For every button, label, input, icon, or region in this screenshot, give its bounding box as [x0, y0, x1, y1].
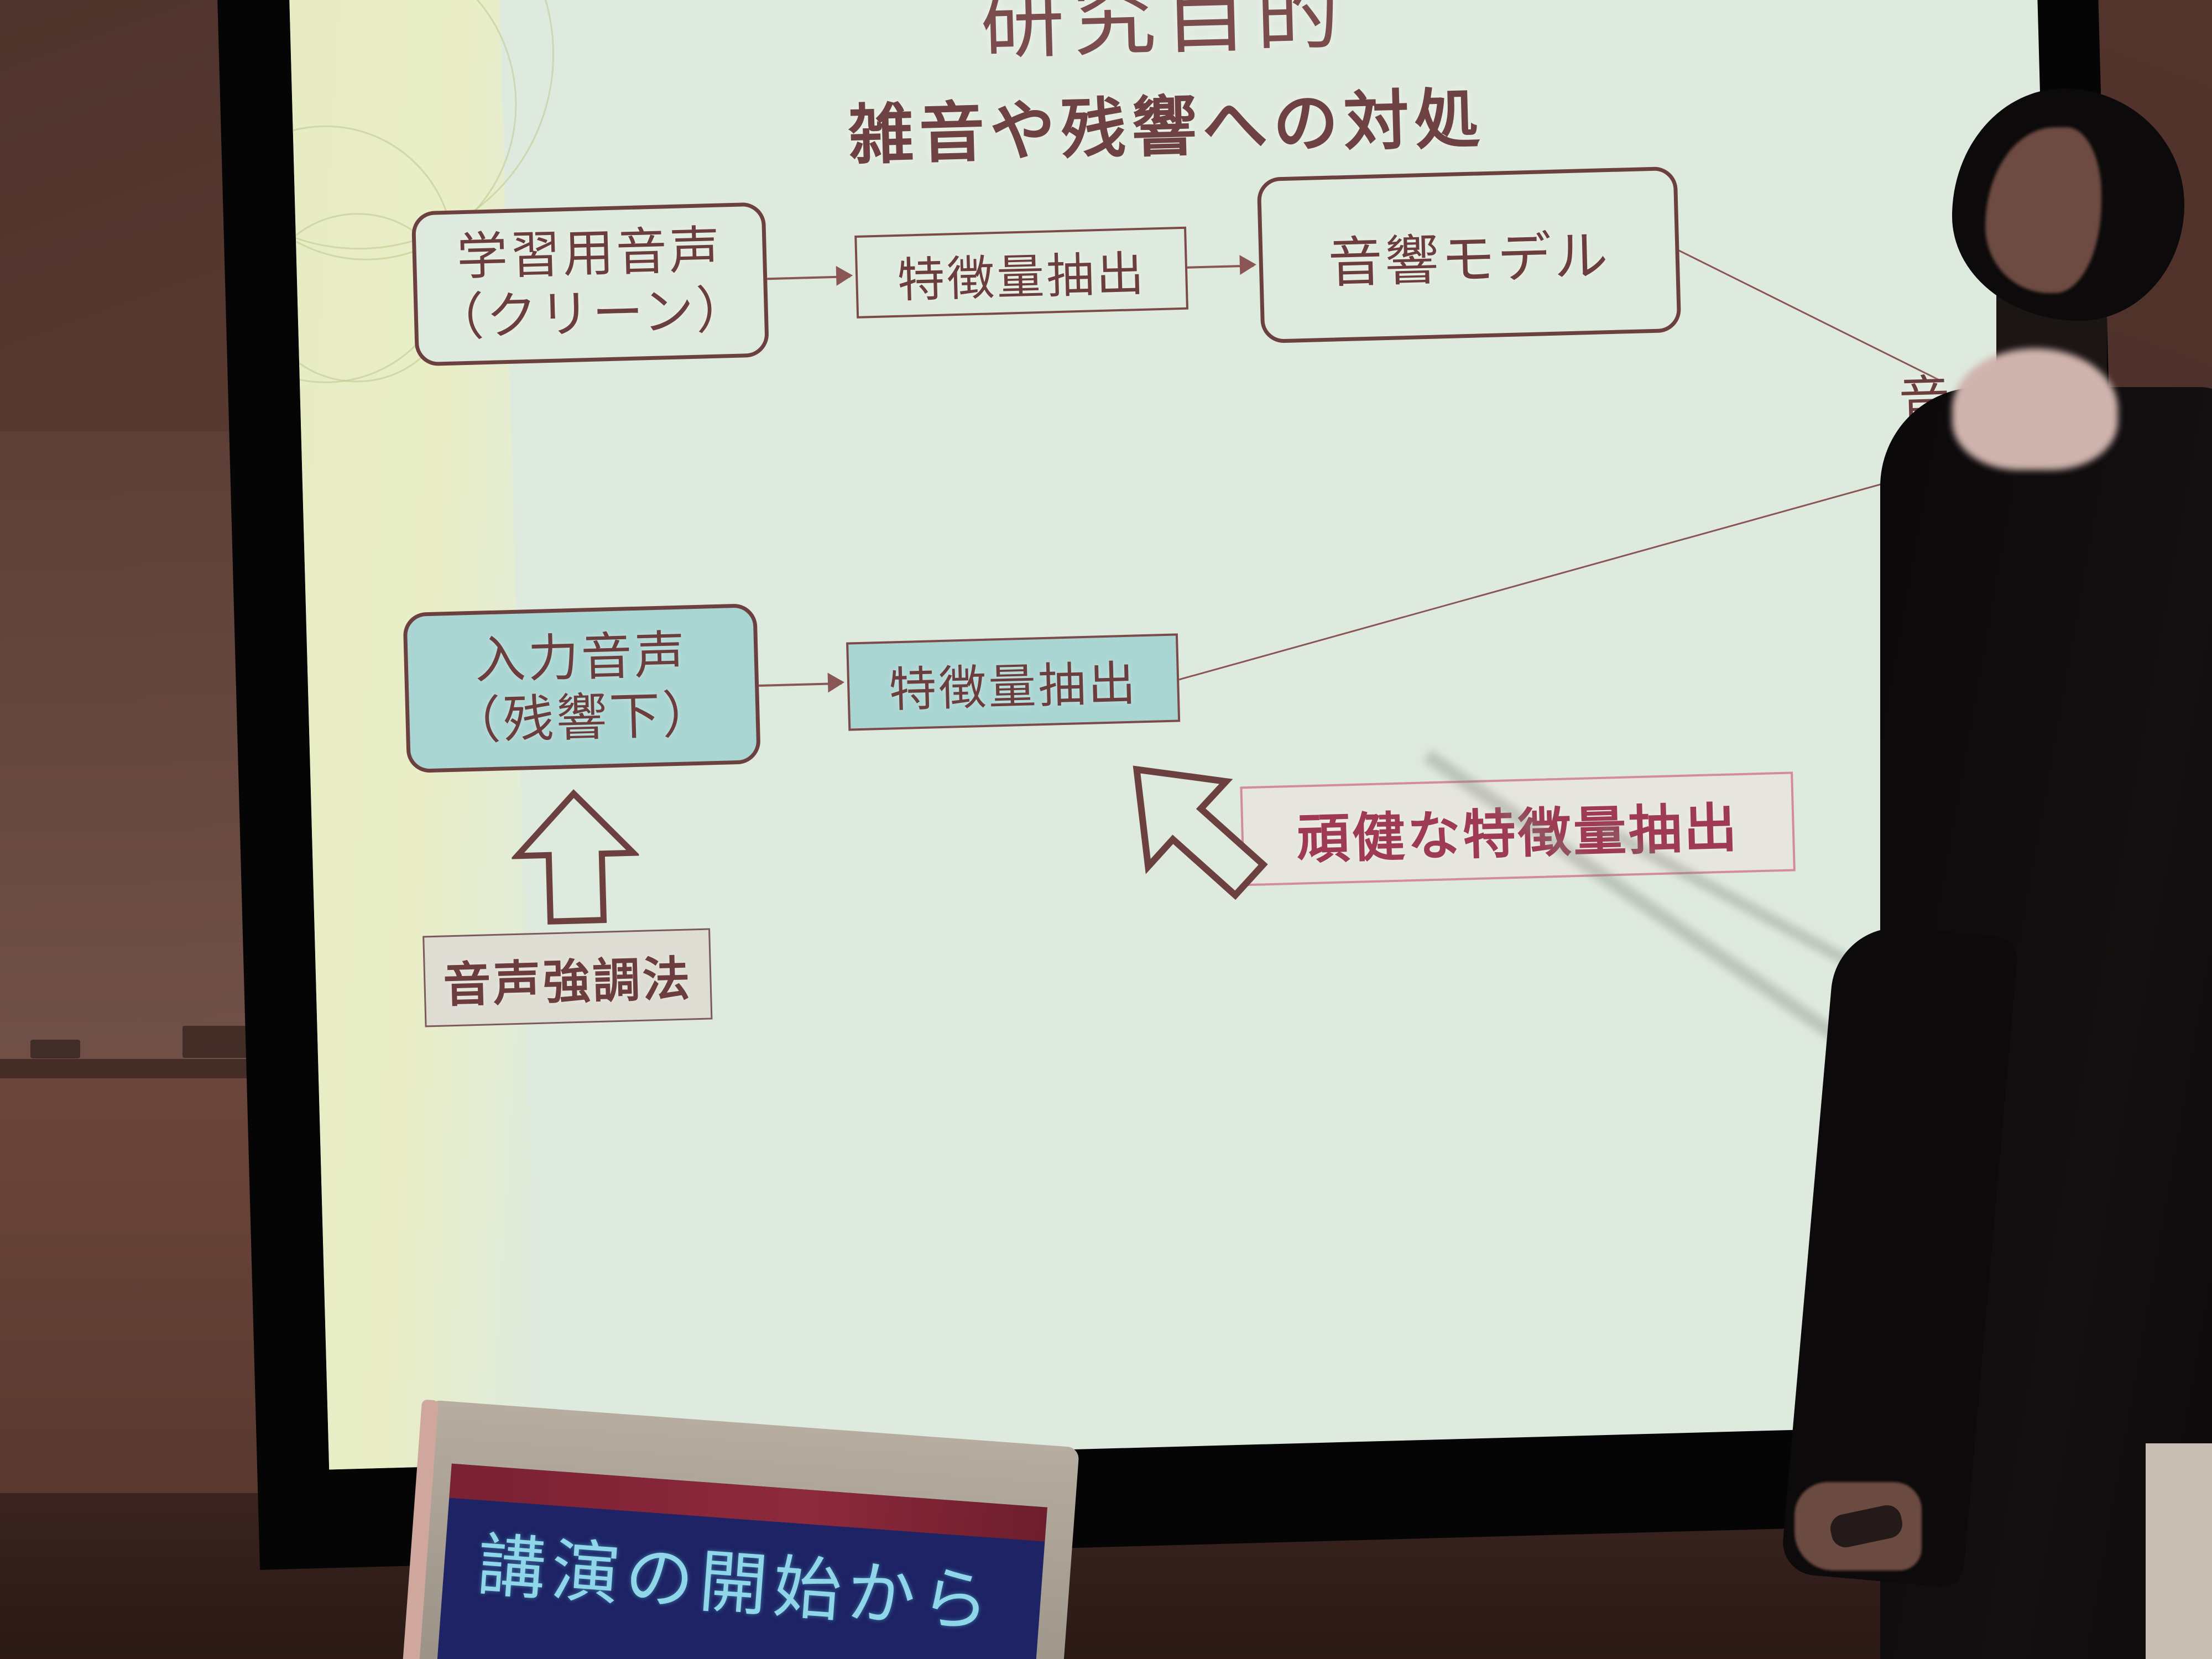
podium — [2146, 1443, 2212, 1659]
box-line-1: 音響モデル — [1327, 212, 1611, 298]
box-line-2: （クリーン） — [432, 280, 750, 348]
callout-speech-enhancement[interactable]: 音声強調法 — [422, 928, 712, 1027]
box-feature-extraction-bottom[interactable]: 特徴量抽出 — [846, 633, 1180, 731]
presenter-collar — [1952, 348, 2118, 470]
box-feature-extraction-top[interactable]: 特徴量抽出 — [854, 227, 1188, 319]
block-arrow-up-left-icon — [1129, 758, 1271, 906]
box-line-1: 特徴量抽出 — [896, 234, 1147, 310]
arrowhead-icon — [1239, 254, 1256, 275]
slide-title: 研究目的 — [289, 0, 2038, 83]
box-line-1: 学習用音声 — [431, 220, 748, 289]
box-line-1: 入力音声 — [447, 625, 714, 692]
rail-object-1 — [30, 1040, 80, 1058]
box-acoustic-model[interactable]: 音響モデル — [1257, 166, 1682, 343]
slide-subtitle: 雑音や残響への対処 — [293, 71, 2041, 183]
presenter-head — [1952, 88, 2184, 321]
room-whiteboard — [0, 431, 260, 1095]
room-chalk-rail — [0, 1059, 260, 1080]
box-line-1: 特徴量抽出 — [888, 644, 1139, 720]
box-input-speech[interactable]: 入力音声 （残響下） — [403, 603, 761, 773]
box-training-speech[interactable]: 学習用音声 （クリーン） — [411, 202, 769, 366]
laptop-screen[interactable]: 講演の開始から — [437, 1464, 1047, 1659]
arrowhead-icon — [828, 672, 845, 693]
lecture-room-scene: 研究目的 雑音や残響への対処 学習用音声 （クリーン） 特徴量抽出 — [0, 0, 2212, 1659]
presenter — [1869, 166, 2212, 1659]
callout-robust-feature-extraction[interactable]: 頑健な特徴量抽出 — [1240, 771, 1796, 886]
callout-label: 音声強調法 — [442, 940, 693, 1015]
box-line-2: （残響下） — [449, 685, 716, 752]
presenter-face — [1985, 127, 2101, 293]
arrowhead-icon — [836, 265, 853, 286]
block-arrow-up-icon — [510, 786, 641, 928]
